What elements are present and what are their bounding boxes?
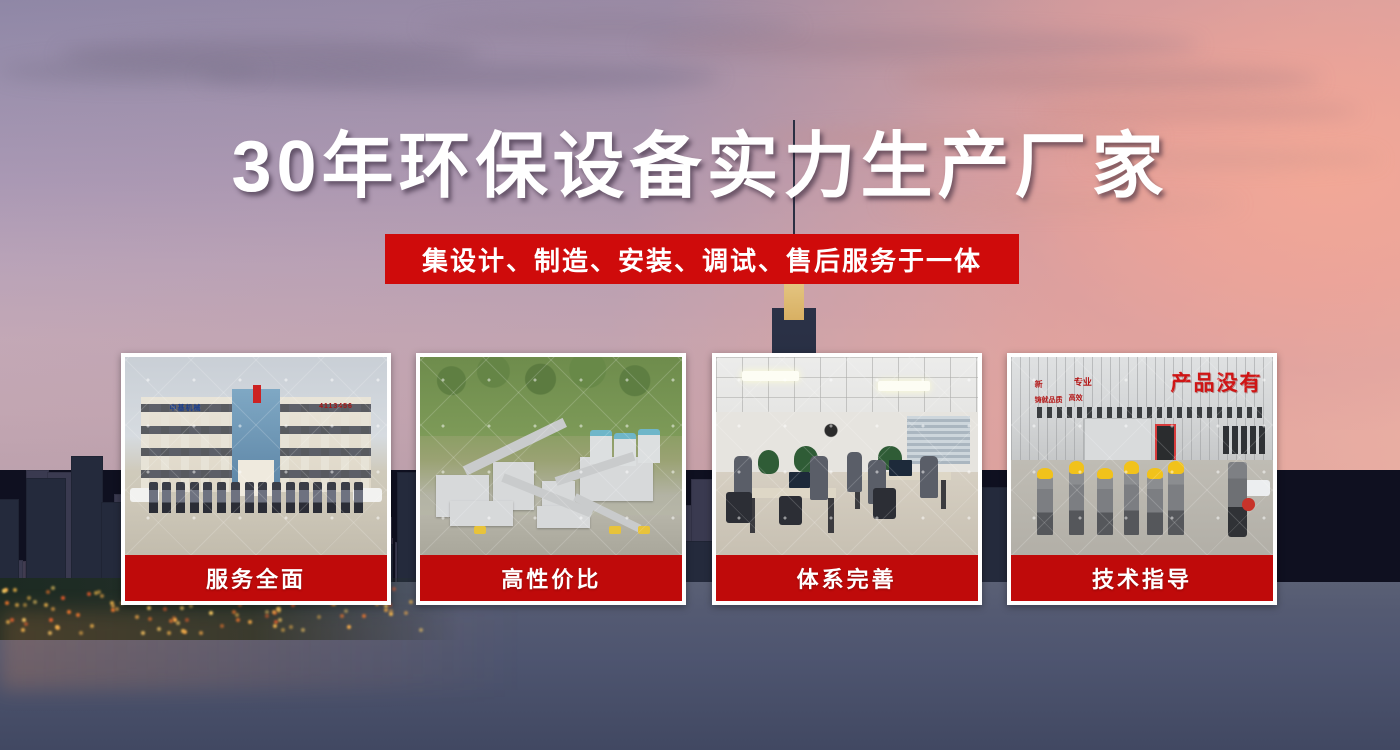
shore-light <box>44 603 48 607</box>
silo <box>638 429 660 462</box>
feature-card-value[interactable]: 高性价比 <box>416 353 686 605</box>
shore-light <box>15 603 19 607</box>
page-title: 30年环保设备实力生产厂家 <box>0 131 1400 203</box>
yellow-helmet <box>1124 461 1140 474</box>
staff-person <box>299 482 308 514</box>
cloud <box>1030 100 1360 122</box>
shore-light <box>33 600 37 604</box>
factory-window <box>1223 426 1265 454</box>
hero-banner: 30年环保设备实力生产厂家 集设计、制造、安装、调试、售后服务于一体 中基机械 … <box>0 0 1400 750</box>
worker <box>1147 476 1163 535</box>
card-caption-text: 体系完善 <box>797 562 897 594</box>
excavator <box>609 526 621 534</box>
staff-person <box>286 482 295 514</box>
card-photo-factory-workers: 产品没有 新 专业 铸就品质 高效 <box>1011 357 1273 555</box>
shore-light <box>13 588 17 592</box>
ceiling-lamp <box>742 371 800 381</box>
factory-slogan: 高效 <box>1069 393 1083 403</box>
flag-icon <box>253 385 261 403</box>
staff-person <box>176 482 185 514</box>
shore-light <box>94 591 98 595</box>
shore-light <box>87 592 91 596</box>
excavator <box>474 526 486 534</box>
factory-slogan: 铸就品质 <box>1035 395 1063 405</box>
worker <box>1069 470 1085 535</box>
yellow-helmet <box>1097 468 1113 480</box>
factory-slogan: 专业 <box>1074 375 1092 388</box>
office-worker <box>810 456 828 500</box>
yellow-helmet <box>1147 468 1163 480</box>
card-photo-office-interior <box>716 357 978 555</box>
shore-light <box>51 586 55 590</box>
red-helmet <box>1242 498 1255 512</box>
shore-light <box>100 594 104 598</box>
feature-card-system[interactable]: 体系完善 <box>712 353 982 605</box>
cloud <box>0 58 260 84</box>
shore-light <box>46 590 50 594</box>
staff-person <box>190 482 199 514</box>
staff-person <box>341 482 350 514</box>
shore-light <box>2 589 6 593</box>
cloud <box>420 16 800 38</box>
chair <box>726 492 752 524</box>
yellow-helmet <box>1168 461 1184 474</box>
plant-structures <box>431 428 672 539</box>
staff-person <box>258 482 267 514</box>
laptop <box>789 472 810 488</box>
worker <box>1168 470 1184 535</box>
feature-card-list: 中基机械 4113456 服务全面 高性价比 <box>121 353 1277 605</box>
worker <box>1037 476 1053 535</box>
window-blinds <box>907 416 970 464</box>
staff-person <box>231 482 240 514</box>
company-phone: 4113456 <box>319 403 353 410</box>
yellow-helmet <box>1069 461 1085 474</box>
plant-building <box>450 501 513 525</box>
desk-leg <box>828 498 833 534</box>
card-caption-bar: 技术指导 <box>1011 555 1273 601</box>
staff-person <box>313 482 322 514</box>
staff-person <box>272 482 281 514</box>
chair <box>779 496 803 526</box>
wall-decal-logo <box>810 416 852 448</box>
company-signboard: 中基机械 <box>170 403 202 413</box>
subtitle-text: 集设计、制造、安装、调试、售后服务于一体 <box>422 241 982 278</box>
subtitle-banner: 集设计、制造、安装、调试、售后服务于一体 <box>385 234 1019 284</box>
card-caption-text: 技术指导 <box>1092 562 1192 594</box>
office-worker <box>847 452 863 492</box>
feature-card-service[interactable]: 中基机械 4113456 服务全面 <box>121 353 391 605</box>
worker <box>1097 476 1113 535</box>
staff-person <box>327 482 336 514</box>
shore-light <box>23 603 27 607</box>
card-photo-office-building: 中基机械 4113456 <box>125 357 387 555</box>
worker <box>1124 470 1140 535</box>
card-caption-text: 服务全面 <box>206 562 306 594</box>
staff-person <box>149 482 158 514</box>
staff-person <box>354 482 363 514</box>
cloud <box>900 66 1320 92</box>
ceiling-lamp <box>878 381 930 391</box>
chair <box>873 488 897 520</box>
desk-leg <box>941 480 946 510</box>
card-caption-bar: 体系完善 <box>716 555 978 601</box>
yellow-helmet <box>1037 468 1053 480</box>
card-photo-industrial-plant <box>420 357 682 555</box>
office-ceiling <box>716 357 978 412</box>
excavator <box>638 526 650 534</box>
staff-lineup <box>149 482 364 514</box>
factory-slogan: 新 <box>1035 379 1043 390</box>
facade-window-band <box>1037 407 1262 419</box>
shore-light <box>61 596 65 600</box>
shore-light <box>5 601 9 605</box>
monitor <box>889 460 913 476</box>
factory-sign-text: 产品没有 <box>1171 367 1263 397</box>
card-caption-text: 高性价比 <box>501 562 601 594</box>
staff-person <box>203 482 212 514</box>
river-light-reflection <box>0 610 520 690</box>
shore-light <box>27 596 31 600</box>
cloud <box>200 62 720 92</box>
staff-person <box>245 482 254 514</box>
feature-card-guidance[interactable]: 产品没有 新 专业 铸就品质 高效 技术指导 <box>1007 353 1277 605</box>
staff-person <box>217 482 226 514</box>
potted-plant <box>758 450 779 474</box>
card-caption-bar: 服务全面 <box>125 555 387 601</box>
office-worker <box>920 456 938 498</box>
card-caption-bar: 高性价比 <box>420 555 682 601</box>
staff-person <box>162 482 171 514</box>
